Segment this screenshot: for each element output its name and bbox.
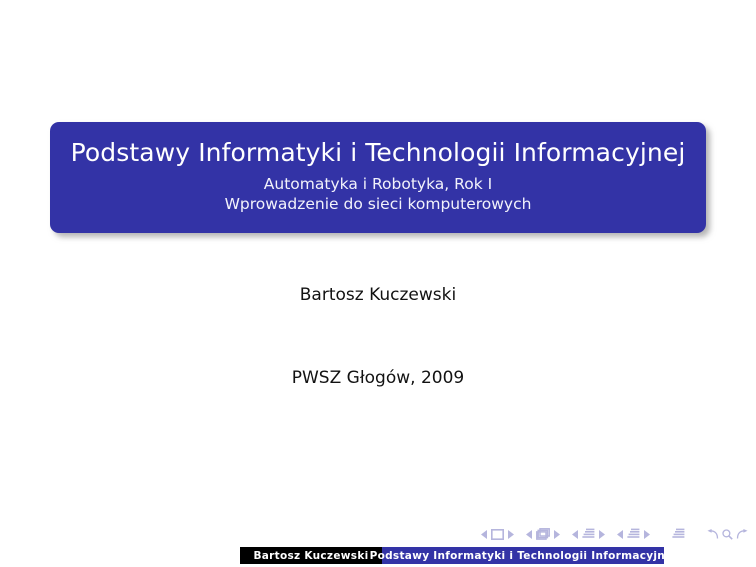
forward-arrow-icon[interactable] <box>736 529 748 540</box>
beamer-navigation-bar[interactable] <box>481 525 748 543</box>
next-section-icon[interactable] <box>643 530 650 539</box>
back-arrow-icon[interactable] <box>707 529 719 540</box>
search-icon[interactable] <box>722 529 733 540</box>
document-icon[interactable] <box>672 528 685 540</box>
prev-slide-icon[interactable] <box>481 530 488 539</box>
next-subsection-icon[interactable] <box>598 530 605 539</box>
subsection-icon[interactable] <box>582 528 595 540</box>
nav-group-frame[interactable] <box>526 528 560 540</box>
nav-group-slide[interactable] <box>481 529 514 540</box>
slide-icon[interactable] <box>491 529 504 540</box>
frame-icon[interactable] <box>536 528 550 540</box>
footer-title: Podstawy Informatyki i Technologii Infor… <box>382 547 664 564</box>
title-box: Podstawy Informatyki i Technologii Infor… <box>50 122 706 233</box>
page-title: Podstawy Informatyki i Technologii Infor… <box>68 138 688 168</box>
prev-subsection-icon[interactable] <box>572 530 579 539</box>
footer-author: Bartosz Kuczewski <box>240 547 382 564</box>
next-frame-icon[interactable] <box>553 530 560 539</box>
section-icon[interactable] <box>627 528 640 540</box>
presentation-slide: Podstawy Informatyki i Technologii Infor… <box>0 0 756 567</box>
date-institution: PWSZ Głogów, 2009 <box>0 368 756 388</box>
nav-group-history[interactable] <box>707 529 748 540</box>
prev-section-icon[interactable] <box>617 530 624 539</box>
nav-group-section[interactable] <box>617 528 650 540</box>
prev-frame-icon[interactable] <box>526 530 533 539</box>
subtitle-line-2: Wprowadzenie do sieci komputerowych <box>68 194 688 215</box>
nav-group-subsection[interactable] <box>572 528 605 540</box>
title-block: Podstawy Informatyki i Technologii Infor… <box>50 122 706 233</box>
author-name: Bartosz Kuczewski <box>0 285 756 305</box>
footer-bar: Bartosz Kuczewski Podstawy Informatyki i… <box>240 547 664 564</box>
subtitle-line-1: Automatyka i Robotyka, Rok I <box>68 174 688 195</box>
next-slide-icon[interactable] <box>507 530 514 539</box>
nav-group-document[interactable] <box>672 528 685 540</box>
